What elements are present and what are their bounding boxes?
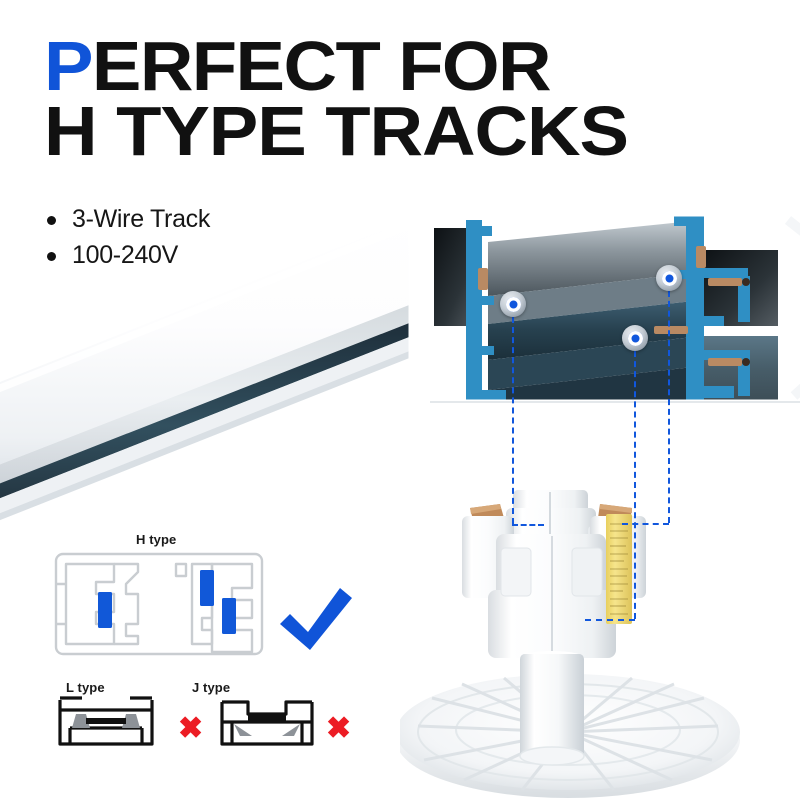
l-type-label: L type [66,680,105,695]
conductor-marker-center [622,325,648,351]
lead-line-center-vertical [634,351,636,619]
j-type-cross-icon: ✖ [326,712,351,745]
track-light-adapter-and-fixture [400,430,800,800]
conductor-marker-left [500,291,526,317]
adapter-rating-label [606,514,632,624]
feature-item-wire: 3-Wire Track [44,202,210,238]
feature-list: 3-Wire Track 100-240V [44,202,210,273]
lead-line-left-horizontal [512,524,544,526]
fixture-svg [400,430,800,800]
h-type-label: H type [136,532,176,547]
product-feature-banner: PERFECT FOR H TYPE TRACKS 3-Wire Track 1… [0,0,800,800]
l-type-profile [60,698,152,744]
conductor-marker-right [656,265,682,291]
l-type-cross-icon: ✖ [178,712,203,745]
h-type-conductors [98,570,236,634]
comparison-svg: ✖ ✖ [26,532,376,772]
lead-line-right-horizontal [622,523,669,525]
page-title: PERFECT FOR H TYPE TRACKS [44,34,800,164]
heatsink-body [400,654,740,798]
h-type-check-icon [280,588,352,650]
lead-line-left-vertical [512,317,514,524]
feature-item-voltage: 100-240V [44,238,210,274]
track-type-comparison: H type L type J type [26,532,376,772]
j-type-label: J type [192,680,230,695]
j-type-profile [222,702,312,744]
headline-line-1: PERFECT FOR [44,34,800,99]
lead-line-right-vertical [668,291,670,523]
rail-cutaway-section [415,210,800,438]
lead-line-center-horizontal [585,619,635,621]
